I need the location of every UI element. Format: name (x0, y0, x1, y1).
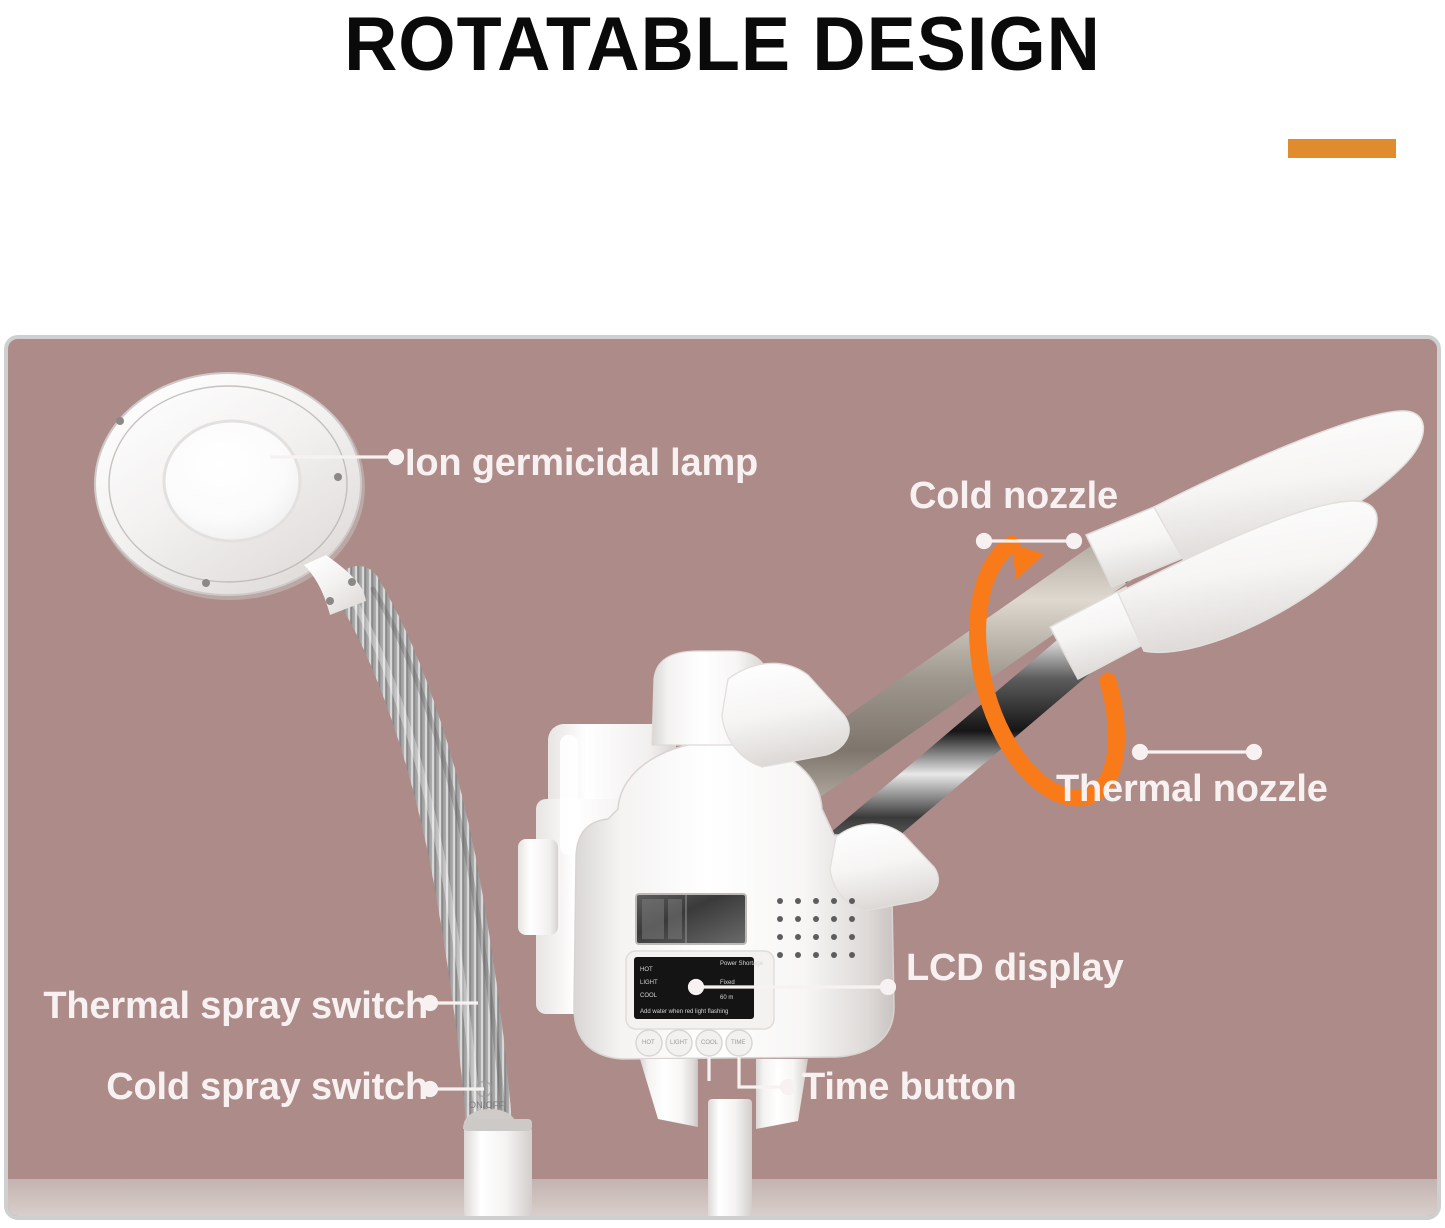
button-cap-cool[interactable]: COOL (701, 1040, 718, 1046)
magnifier-lens (164, 421, 300, 541)
power-label: ON/OFF (469, 1100, 504, 1110)
lcd-item-cool: COOL (640, 993, 657, 999)
lcd-item-timer: 60 m (720, 995, 733, 1001)
infographic-page: ROTATABLE DESIGN (0, 0, 1445, 1228)
lcd-hint-text: Add water when red light flashing (640, 1009, 728, 1015)
page-title: ROTATABLE DESIGN (22, 4, 1424, 86)
callout-label-ion-germicidal-lamp: Ion germicidal lamp (405, 442, 758, 485)
water-level-window (636, 894, 746, 944)
callout-label-cold-nozzle: Cold nozzle (909, 475, 1118, 518)
button-cap-hot[interactable]: HOT (642, 1040, 655, 1046)
gooseneck-arm (347, 589, 505, 1139)
callout-label-cold-spray-switch: Cold spray switch (106, 1066, 428, 1109)
lcd-item-light: LIGHT (640, 980, 658, 986)
lcd-item-fixed: Fixed (720, 980, 735, 986)
lcd-item-power-shortage: Power Shortage (720, 961, 763, 967)
button-cap-light[interactable]: LIGHT (670, 1040, 688, 1046)
callout-label-thermal-nozzle: Thermal nozzle (1056, 768, 1328, 811)
accent-bar (1288, 139, 1396, 158)
button-cap-time[interactable]: TIME (731, 1040, 745, 1046)
callout-label-thermal-spray-switch: Thermal spray switch (43, 985, 428, 1028)
callout-label-time-button: Time button (802, 1066, 1017, 1109)
lcd-item-hot: HOT (640, 967, 653, 973)
callout-label-lcd-display: LCD display (906, 947, 1123, 990)
switch-pole (464, 1125, 532, 1216)
lamp-head (95, 373, 366, 615)
